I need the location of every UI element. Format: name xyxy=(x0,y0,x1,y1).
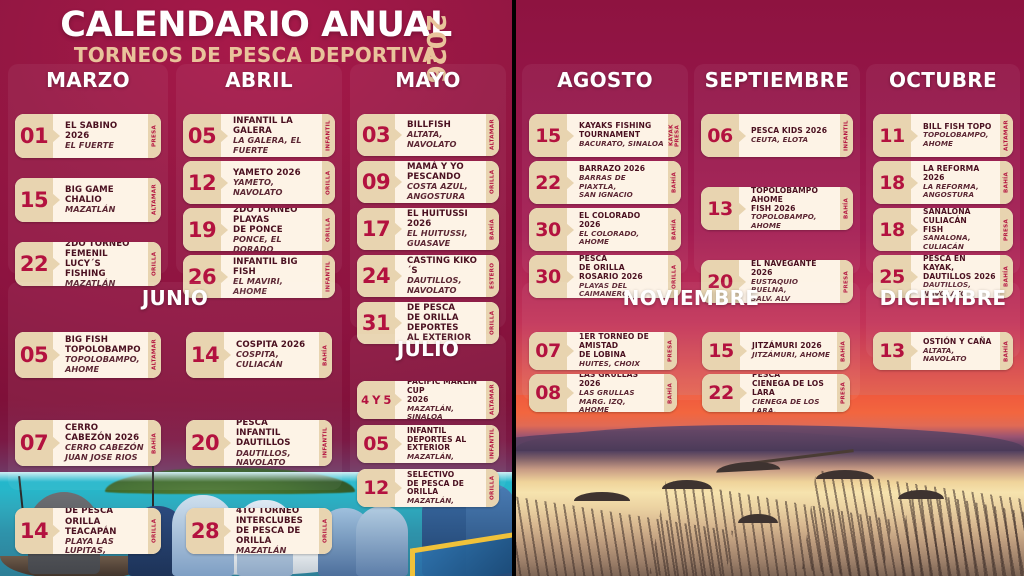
month-group-agosto: AGOSTO 15KAYAKS FISHINGTOURNAMENTBACURAT… xyxy=(522,64,688,274)
event-body: CASTING KIKO´SDAUTILLOS, NAVOLATO xyxy=(395,255,486,297)
event-day: 20 xyxy=(186,420,224,466)
event-body: INFANTIL LA GALERALA GALERA, EL FUERTE xyxy=(221,114,322,157)
event-body: BARRAZO 2026BARRAS DE PIAXTLA,SAN IGNACI… xyxy=(567,161,668,204)
event-category-tag: BAHÍA xyxy=(1000,161,1013,204)
event-location: CERRO CABEZÓNJUAN JOSE RIOS xyxy=(65,443,144,462)
month-title: MARZO xyxy=(8,70,168,90)
event-body: LA REFORMA 2026LA REFORMA, ANGOSTURA xyxy=(911,161,1000,204)
event-category-tag: PRESA xyxy=(837,374,850,412)
event-location: ALTATA, NAVOLATO xyxy=(407,130,482,149)
event-location: TOPOLOBAMPO, AHOME xyxy=(923,131,996,148)
event-day: 01 xyxy=(15,114,53,158)
month-group-abril: ABRIL 05INFANTIL LA GALERALA GALERA, EL … xyxy=(176,64,342,274)
month-group-septiembre: SEPTIEMBRE 06PESCA KIDS 2026CEUTA, ELOTA… xyxy=(694,64,860,274)
event-body: LAS GRULLAS 2026LAS GRULLAS MARG. IZQ,AH… xyxy=(567,374,664,412)
event-day: 12 xyxy=(183,161,221,204)
event-location: BARRAS DE PIAXTLA,SAN IGNACIO xyxy=(579,174,664,199)
event-category-tag: ALTAMAR xyxy=(148,178,161,222)
event-day: 08 xyxy=(529,374,567,412)
event-day: 17 xyxy=(357,208,395,250)
month-group-noviembre: NOVIEMBRE 071ER TORNEO DE AMISTADDE LOBI… xyxy=(522,282,860,400)
event-day: 12 xyxy=(357,469,395,507)
event-pill[interactable]: 08LAS GRULLAS 2026LAS GRULLAS MARG. IZQ,… xyxy=(529,374,677,412)
event-day: 13 xyxy=(873,332,911,370)
event-title: EL HUITUSSI 2026 xyxy=(407,209,482,229)
event-day: 14 xyxy=(186,332,224,378)
event-body: BILLFISHALTATA, NAVOLATO xyxy=(395,114,486,156)
event-category-tag: BAHÍA xyxy=(840,187,853,230)
event-title: PESCA INFANTILDAUTILLOS xyxy=(236,420,315,449)
event-pill[interactable]: 01EL SABINO 2026EL FUERTEPRESA xyxy=(15,114,161,158)
event-body: BIG FISHTOPOLOBAMPOTOPOLOBAMPO, AHOME xyxy=(53,332,148,378)
event-location: LA REFORMA, ANGOSTURA xyxy=(923,183,996,200)
event-category-tag: ESTERO xyxy=(486,255,499,297)
month-title: JULIO xyxy=(350,339,506,359)
event-pill[interactable]: 071ER TORNEO DE AMISTADDE LOBINAHUITES, … xyxy=(529,332,677,370)
event-location: COSPITA, CULIACÁN xyxy=(236,350,315,369)
event-location: LA GALERA, EL FUERTE xyxy=(233,136,318,155)
title-subtitle: TORNEOS DE PESCA DEPORTIVA xyxy=(74,45,438,65)
event-category-tag: INFANTIL xyxy=(486,425,499,463)
event-location: PLAYA LAS LUPITAS,ESCUINAPA xyxy=(65,537,144,554)
month-group-junio: JUNIO 05BIG FISHTOPOLOBAMPOTOPOLOBAMPO, … xyxy=(8,282,342,490)
event-title: 2DO TORNEO FEMENILLUCY´S FISHING xyxy=(65,242,144,279)
month-group-diciembre: DICIEMBRE 13OSTIÓN Y CAÑAALTATA, NAVOLAT… xyxy=(866,282,1020,358)
event-category-tag: ORILLA xyxy=(319,508,332,554)
event-day: 11 xyxy=(873,114,911,157)
month-title: DICIEMBRE xyxy=(866,288,1020,308)
event-location: PONCE, EL DORADO xyxy=(233,235,318,251)
event-pill[interactable]: 20PESCA INFANTILDAUTILLOSDAUTILLOS, NAVO… xyxy=(186,420,332,466)
event-location: TOPOLOBAMPO, AHOME xyxy=(751,213,836,230)
event-body: 2DO TORNEO INFANTILDEPORTES AL EXTERIORM… xyxy=(395,425,486,463)
event-title: EL COLORADO 2026 xyxy=(579,212,664,230)
event-pill[interactable]: 14COSPITA 2026COSPITA, CULIACÁNBAHÍA xyxy=(186,332,332,378)
event-title: EL NAVEGANTE 2026 xyxy=(751,260,836,278)
event-pill[interactable]: 24CASTING KIKO´SDAUTILLOS, NAVOLATOESTER… xyxy=(357,255,499,297)
event-location: TOPOLOBAMPO, AHOME xyxy=(65,355,144,374)
event-category-tag: BAHÍA xyxy=(668,208,681,251)
event-title: 8VO TORNEO SELECTIVODE PESCA DE ORILLA xyxy=(407,469,482,497)
event-body: PESCA KIDS 2026CEUTA, ELOTA xyxy=(739,114,840,157)
calendar-poster: CALENDARIO ANUAL TORNEOS DE PESCA DEPORT… xyxy=(0,0,1024,576)
event-body: 1ER TORNEO DE AMISTADDE LOBINAHUITES, CH… xyxy=(567,332,664,370)
event-title: INFANTIL LA GALERA xyxy=(233,116,318,136)
event-day: 28 xyxy=(186,508,224,554)
event-body: 3ER TORNEO DE PESCACIENEGA DE LOS LARACI… xyxy=(740,374,837,412)
month-title: SEPTIEMBRE xyxy=(694,70,860,90)
event-pill[interactable]: 15KAYAKS FISHINGTOURNAMENTBACURATO, SINA… xyxy=(529,114,681,157)
event-body: JITZÁMURI 2026JITZÁMURI, AHOME xyxy=(740,332,837,370)
month-title: NOVIEMBRE xyxy=(522,288,860,308)
event-category-tag: BAHÍA xyxy=(486,208,499,250)
event-category-tag: PRESA xyxy=(1000,208,1013,251)
event-location: JITZÁMURI, AHOME xyxy=(752,351,833,359)
event-category-tag: ORILLA xyxy=(486,161,499,203)
event-pill[interactable]: 13TOPOLOBAMPO AHOMEFISH 2026TOPOLOBAMPO,… xyxy=(701,187,853,230)
event-pill[interactable]: 06PESCA KIDS 2026CEUTA, ELOTAINFANTIL xyxy=(701,114,853,157)
event-pill[interactable]: 05INFANTIL LA GALERALA GALERA, EL FUERTE… xyxy=(183,114,335,157)
event-category-tag: ALTAMAR xyxy=(1000,114,1013,157)
event-pill[interactable]: 192DO TORNEO PLAYASDE PONCEPONCE, EL DOR… xyxy=(183,208,335,251)
month-title: AGOSTO xyxy=(522,70,688,90)
event-location: YAMETO, NAVOLATO xyxy=(233,178,318,197)
event-category-tag: ALTAMAR xyxy=(486,381,499,419)
event-body: EL COLORADO 2026EL COLORADO, AHOME xyxy=(567,208,668,251)
event-day: 22 xyxy=(15,242,53,286)
event-location: DAUTILLOS, NAVOLATO xyxy=(407,276,482,295)
event-body: COSPITA 2026COSPITA, CULIACÁN xyxy=(224,332,319,378)
event-body: 8VO TORNEO SELECTIVODE PESCA DE ORILLAMA… xyxy=(395,469,486,507)
event-category-tag: ORILLA xyxy=(148,242,161,286)
event-title: 4TO TORNEO INTERCLUBESDE PESCA DE ORILLA xyxy=(236,508,315,546)
event-pill[interactable]: 07CERRO CABEZÓN 2026CERRO CABEZÓNJUAN JO… xyxy=(15,420,161,466)
event-day: 15 xyxy=(15,178,53,222)
event-location: SANALONA, CULIACÁN xyxy=(923,234,996,251)
event-category-tag: INFANTIL xyxy=(840,114,853,157)
event-title: TOPOLOBAMPO AHOMEFISH 2026 xyxy=(751,187,836,213)
event-pill[interactable]: 12YAMETO 2026YAMETO, NAVOLATOORILLA xyxy=(183,161,335,204)
event-title: INFANTIL BIG FISH xyxy=(233,257,318,277)
event-category-tag: ORILLA xyxy=(322,161,335,204)
month-group-julio: JULIO 4 Y 5PACIFIC MARLIN CUP2026MAZATLÁ… xyxy=(350,334,506,490)
event-body: KAYAKS FISHINGTOURNAMENTBACURATO, SINALO… xyxy=(567,114,668,157)
event-day: 18 xyxy=(873,161,911,204)
event-title: LAS GRULLAS 2026 xyxy=(579,374,660,389)
event-day: 05 xyxy=(15,332,53,378)
event-pill[interactable]: 13OSTIÓN Y CAÑAALTATA, NAVOLATOBAHÍA xyxy=(873,332,1013,370)
event-title: CERRO CABEZÓN 2026 xyxy=(65,423,144,443)
event-category-tag: ORILLA xyxy=(148,508,161,554)
event-day: 07 xyxy=(15,420,53,466)
event-body: BILL FISH TOPOTOPOLOBAMPO, AHOME xyxy=(911,114,1000,157)
event-pill[interactable]: 15JITZÁMURI 2026JITZÁMURI, AHOMEBAHÍA xyxy=(702,332,850,370)
event-pill[interactable]: 223ER TORNEO DE PESCACIENEGA DE LOS LARA… xyxy=(702,374,850,412)
event-pill[interactable]: 128VO TORNEO SELECTIVODE PESCA DE ORILLA… xyxy=(357,469,499,507)
left-content: CALENDARIO ANUAL TORNEOS DE PESCA DEPORT… xyxy=(0,0,512,576)
month-group-marzo: MARZO 01EL SABINO 2026EL FUERTEPRESA15BI… xyxy=(8,64,168,274)
event-title: KAYAKS FISHINGTOURNAMENT xyxy=(579,122,664,140)
event-day: 22 xyxy=(529,161,567,204)
event-body: 4TO TORNEO INTERCLUBESDE PESCA DE ORILLA… xyxy=(224,508,319,554)
event-category-tag: BAHÍA xyxy=(1000,332,1013,370)
event-location: LAS GRULLAS MARG. IZQ,AHOME xyxy=(579,389,660,412)
event-category-tag: PRESA xyxy=(148,114,161,158)
event-body: YAMETO 2026YAMETO, NAVOLATO xyxy=(221,161,322,204)
event-body: CERRO CABEZÓN 2026CERRO CABEZÓNJUAN JOSE… xyxy=(53,420,148,466)
event-day: 09 xyxy=(357,161,395,203)
month-title: MAYO xyxy=(350,70,506,90)
event-title: BIG GAME CHALIO xyxy=(65,185,144,205)
event-day: 03 xyxy=(357,114,395,156)
event-pill[interactable]: 052DO TORNEO INFANTILDEPORTES AL EXTERIO… xyxy=(357,425,499,463)
event-title: 2DO TORNEO INFANTILDEPORTES AL EXTERIOR xyxy=(407,425,482,453)
event-title: BIG FISHTOPOLOBAMPO xyxy=(65,335,144,355)
poster-title: CALENDARIO ANUAL TORNEOS DE PESCA DEPORT… xyxy=(0,8,512,60)
event-title: PACIFIC MARLIN CUP2026 xyxy=(407,381,482,405)
event-day: 05 xyxy=(357,425,395,463)
event-body: MAMÁ Y YOPESCANDOCOSTA AZUL, ANGOSTURA xyxy=(395,161,486,203)
event-day: 07 xyxy=(529,332,567,370)
event-body: BIG GAME CHALIOMAZATLÁN xyxy=(53,178,148,222)
event-pill[interactable]: 17EL HUITUSSI 2026EL HUITUSSI, GUASAVEBA… xyxy=(357,208,499,250)
event-location: MAZATLÁN, SINALOA xyxy=(407,405,482,419)
event-category-tag: PRESA xyxy=(664,332,677,370)
event-day: 24 xyxy=(357,255,395,297)
event-pill[interactable]: 4 Y 5PACIFIC MARLIN CUP2026MAZATLÁN, SIN… xyxy=(357,381,499,419)
event-body: EL SABINO 2026EL FUERTE xyxy=(53,114,148,158)
event-pill[interactable]: 284TO TORNEO INTERCLUBESDE PESCA DE ORIL… xyxy=(186,508,332,554)
event-category-tag: BAHÍA xyxy=(664,374,677,412)
event-pill[interactable]: 09MAMÁ Y YOPESCANDOCOSTA AZUL, ANGOSTURA… xyxy=(357,161,499,203)
event-pill[interactable]: 22BARRAZO 2026BARRAS DE PIAXTLA,SAN IGNA… xyxy=(529,161,681,204)
poster-left-panel: CALENDARIO ANUAL TORNEOS DE PESCA DEPORT… xyxy=(0,0,512,576)
event-pill[interactable]: 30EL COLORADO 2026EL COLORADO, AHOMEBAHÍ… xyxy=(529,208,681,251)
event-day: 18 xyxy=(873,208,911,251)
event-day: 4 Y 5 xyxy=(357,381,395,419)
poster-right-panel: AGOSTO 15KAYAKS FISHINGTOURNAMENTBACURAT… xyxy=(516,0,1024,576)
event-body: 2DO TORNEO DE PESCAORILLA TEACAPÁNPLAYA … xyxy=(53,508,148,554)
event-pill[interactable]: 222DO TORNEO FEMENILLUCY´S FISHINGMAZATL… xyxy=(15,242,161,286)
event-title: PESCA EN KAYAK,DAUTILLOS 2026 xyxy=(923,255,996,281)
event-title: 1ER TORNEO DE AMISTADDE LOBINA xyxy=(579,333,660,360)
event-title: 2DO TORNEO PLAYASDE PONCE xyxy=(233,208,318,235)
event-location: COSTA AZUL, ANGOSTURA xyxy=(407,182,482,201)
event-location: EL HUITUSSI, GUASAVE xyxy=(407,229,482,248)
event-pill[interactable]: 15BIG GAME CHALIOMAZATLÁNALTAMAR xyxy=(15,178,161,222)
event-location: EL COLORADO, AHOME xyxy=(579,230,664,247)
event-body: OSTIÓN Y CAÑAALTATA, NAVOLATO xyxy=(911,332,1000,370)
event-title: 2DO TORNEO DE PESCAORILLA TEACAPÁN xyxy=(65,508,144,537)
event-location: CEUTA, ELOTA xyxy=(751,136,836,144)
month-title: OCTUBRE xyxy=(866,70,1020,90)
event-location: MAZATLÁN, SINALOA xyxy=(407,453,482,463)
event-body: 2DO TORNEO PLAYASDE PONCEPONCE, EL DORAD… xyxy=(221,208,322,251)
right-content: AGOSTO 15KAYAKS FISHINGTOURNAMENTBACURAT… xyxy=(516,0,1024,576)
event-location: BACURATO, SINALOA xyxy=(579,140,664,148)
event-category-tag: BAHÍA xyxy=(319,332,332,378)
event-category-tag: KAYAK PRESA xyxy=(668,114,681,157)
event-day: 15 xyxy=(702,332,740,370)
event-day: 05 xyxy=(183,114,221,157)
month-group-octubre: OCTUBRE 11BILL FISH TOPOTOPOLOBAMPO, AHO… xyxy=(866,64,1020,274)
event-day: 22 xyxy=(702,374,740,412)
event-location: MAZATLÁN xyxy=(65,205,144,215)
event-category-tag: ORILLA xyxy=(322,208,335,251)
event-location: CIENEGA DE LOS LARA,BADIRAGUATO xyxy=(752,398,833,412)
event-day: 14 xyxy=(15,508,53,554)
event-category-tag: BAHÍA xyxy=(837,332,850,370)
event-title: SANALONA CULIACÁNFISH xyxy=(923,208,996,234)
event-body: EL HUITUSSI 2026EL HUITUSSI, GUASAVE xyxy=(395,208,486,250)
event-title: 4TO TORNEO DE PESCADE ORILLA ROSARIO 202… xyxy=(579,255,664,282)
event-title: 3ER TORNEO DE PESCACIENEGA DE LOS LARA xyxy=(752,374,833,398)
event-title: EL SABINO 2026 xyxy=(65,121,144,141)
event-category-tag: BAHÍA xyxy=(668,161,681,204)
event-category-tag: ALTAMAR xyxy=(486,114,499,156)
event-category-tag: ORILLA xyxy=(486,469,499,507)
title-main: CALENDARIO ANUAL xyxy=(60,8,451,43)
event-day: 30 xyxy=(529,208,567,251)
event-body: PACIFIC MARLIN CUP2026MAZATLÁN, SINALOA xyxy=(395,381,486,419)
event-pill[interactable]: 11BILL FISH TOPOTOPOLOBAMPO, AHOMEALTAMA… xyxy=(873,114,1013,157)
event-location: MAZATLÁN xyxy=(236,546,315,554)
event-location: HUITES, CHOIX xyxy=(579,360,660,368)
event-location: ALTATA, NAVOLATO xyxy=(923,347,996,364)
event-day: 06 xyxy=(701,114,739,157)
event-location: EL FUERTE xyxy=(65,141,144,151)
event-day: 13 xyxy=(701,187,739,230)
event-category-tag: INFANTIL xyxy=(322,114,335,157)
month-title: ABRIL xyxy=(176,70,342,90)
month-group-mayo: MAYO 03BILLFISHALTATA, NAVOLATOALTAMAR09… xyxy=(350,64,506,328)
event-category-tag: BAHÍA xyxy=(148,420,161,466)
event-location: MAZATLÁN, SINALOA xyxy=(407,497,482,507)
event-body: TOPOLOBAMPO AHOMEFISH 2026TOPOLOBAMPO, A… xyxy=(739,187,840,230)
event-body: 2DO TORNEO FEMENILLUCY´S FISHINGMAZATLÁN xyxy=(53,242,148,286)
event-category-tag: ALTAMAR xyxy=(148,332,161,378)
event-pill[interactable]: 18LA REFORMA 2026LA REFORMA, ANGOSTURABA… xyxy=(873,161,1013,204)
event-location: DAUTILLOS, NAVOLATO xyxy=(236,449,315,466)
event-title: CASTING KIKO´S xyxy=(407,256,482,276)
event-body: SANALONA CULIACÁNFISHSANALONA, CULIACÁN xyxy=(911,208,1000,251)
event-category-tag: INFANTIL xyxy=(319,420,332,466)
event-day: 15 xyxy=(529,114,567,157)
event-pill[interactable]: 142DO TORNEO DE PESCAORILLA TEACAPÁNPLAY… xyxy=(15,508,161,554)
event-body: PESCA INFANTILDAUTILLOSDAUTILLOS, NAVOLA… xyxy=(224,420,319,466)
event-pill[interactable]: 18SANALONA CULIACÁNFISHSANALONA, CULIACÁ… xyxy=(873,208,1013,251)
month-title: JUNIO xyxy=(8,288,342,308)
event-pill[interactable]: 05BIG FISHTOPOLOBAMPOTOPOLOBAMPO, AHOMEA… xyxy=(15,332,161,378)
event-day: 19 xyxy=(183,208,221,251)
event-pill[interactable]: 03BILLFISHALTATA, NAVOLATOALTAMAR xyxy=(357,114,499,156)
event-title: MAMÁ Y YOPESCANDO xyxy=(407,162,482,182)
event-title: LA REFORMA 2026 xyxy=(923,165,996,183)
